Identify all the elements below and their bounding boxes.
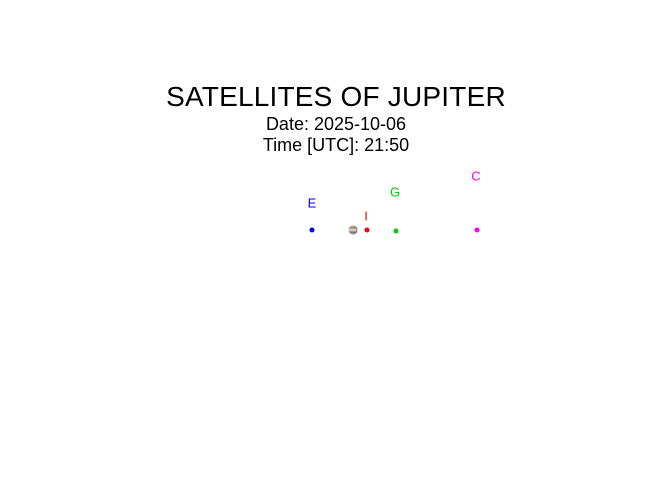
moon-marker-io xyxy=(365,228,370,233)
moon-label-europa: E xyxy=(308,197,317,210)
moon-marker-callisto xyxy=(475,228,480,233)
moon-label-callisto: C xyxy=(471,170,480,183)
moon-marker-europa xyxy=(310,228,315,233)
moon-label-ganymede: G xyxy=(390,186,400,199)
moon-marker-ganymede xyxy=(394,229,399,234)
moon-label-io: I xyxy=(364,210,368,223)
jupiter-planet-disk xyxy=(349,226,358,235)
jupiter-satellites-view: SATELLITES OF JUPITER Date: 2025-10-06 T… xyxy=(0,0,672,480)
sky-field: EIGC xyxy=(0,0,672,480)
